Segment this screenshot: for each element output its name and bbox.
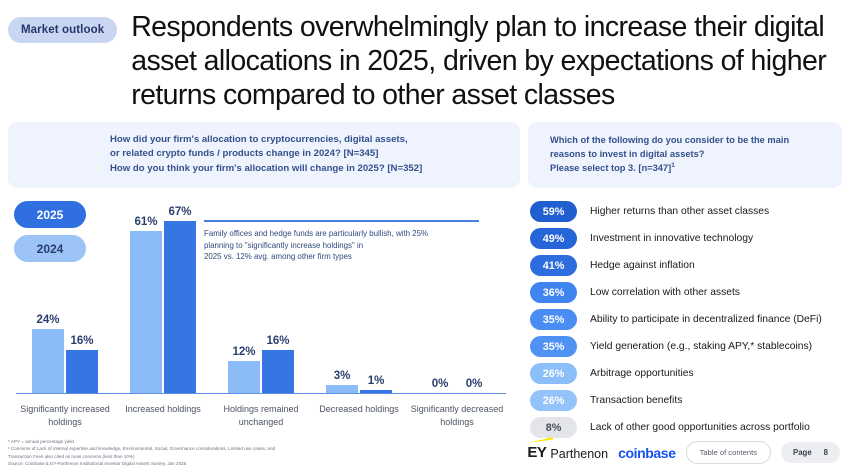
legend-item-2025: 2025	[14, 201, 86, 228]
bar-pair: 61%67%	[130, 206, 196, 393]
reason-value-pill: 41%	[530, 255, 577, 276]
reason-label: Low correlation with other assets	[590, 287, 740, 298]
bar-value-label: 12%	[232, 346, 255, 358]
reason-row: 41%Hedge against inflation	[530, 252, 844, 279]
x-axis-label: Holdings remained unchanged	[212, 398, 310, 436]
bar-value-label: 0%	[466, 378, 483, 390]
question-row: How did your firm's allocation to crypto…	[0, 113, 850, 189]
bar-2024	[130, 231, 162, 392]
reason-row: 49%Investment in innovative technology	[530, 225, 844, 252]
question-box-left: How did your firm's allocation to crypto…	[8, 122, 520, 189]
x-axis-labels: Significantly increased holdingsIncrease…	[16, 398, 506, 436]
x-axis-label: Increased holdings	[114, 398, 212, 436]
reason-row: 35%Yield generation (e.g., staking APY,*…	[530, 333, 844, 360]
page-title: Respondents overwhelmingly plan to incre…	[131, 10, 836, 113]
reason-value-pill: 26%	[530, 390, 577, 411]
question-left-line3: How do you think your firm's allocation …	[110, 162, 506, 177]
question-right-line1: Which of the following do you consider t…	[550, 133, 828, 147]
bar-column-2024: 61%	[130, 206, 162, 393]
question-right-line2: reasons to invest in digital assets?	[550, 147, 828, 161]
x-axis-label: Significantly decreased holdings	[408, 398, 506, 436]
bar-value-label: 16%	[266, 335, 289, 347]
reason-row: 35%Ability to participate in decentraliz…	[530, 306, 844, 333]
question-right-line3: Please select top 3. [n=347]1	[550, 161, 828, 176]
chart-legend: 2025 2024	[14, 201, 86, 269]
bar-2025	[66, 350, 98, 392]
body: 2025 2024 Family offices and hedge funds…	[0, 188, 850, 441]
reason-row: 36%Low correlation with other assets	[530, 279, 844, 306]
page-indicator[interactable]: Page 8	[781, 442, 840, 463]
reason-label: Transaction benefits	[590, 395, 682, 406]
bar-value-label: 0%	[432, 378, 449, 390]
ey-parthenon-word: Parthenon	[550, 448, 608, 461]
bar-value-label: 1%	[368, 375, 385, 387]
annotation-line1: Family offices and hedge funds are parti…	[204, 228, 479, 240]
section-badge: Market outlook	[8, 17, 117, 43]
reason-label: Yield generation (e.g., staking APY,* st…	[590, 341, 812, 352]
reason-value-pill: 26%	[530, 363, 577, 384]
question-right-line3-text: Please select top 3. [n=347]	[550, 163, 671, 173]
bar-2024	[228, 361, 260, 393]
question-box-right: Which of the following do you consider t…	[528, 122, 842, 189]
footer: * APY = annual percentage yield ¹ Concer…	[0, 432, 850, 472]
reason-value-pill: 59%	[530, 201, 577, 222]
bar-group: 61%67%	[114, 206, 212, 393]
slide: Market outlook Respondents overwhelmingl…	[0, 0, 850, 472]
reason-row: 26%Arbitrage opportunities	[530, 360, 844, 387]
chart-axis-line	[16, 393, 506, 395]
reason-label: Higher returns than other asset classes	[590, 206, 769, 217]
legend-item-2024: 2024	[14, 235, 86, 262]
bar-2024	[32, 329, 64, 392]
annotation-line2: planning to "significantly increase hold…	[204, 240, 479, 252]
x-axis-label: Decreased holdings	[310, 398, 408, 436]
bar-value-label: 67%	[168, 206, 191, 218]
x-axis-label: Significantly increased holdings	[16, 398, 114, 436]
reason-value-pill: 36%	[530, 282, 577, 303]
coinbase-logo: coinbase	[618, 446, 676, 460]
reasons-panel: 59%Higher returns than other asset class…	[528, 196, 842, 441]
bar-2025	[262, 350, 294, 392]
bar-column-2025: 67%	[164, 206, 196, 393]
reason-row: 26%Transaction benefits	[530, 387, 844, 414]
legend-label-2024: 2024	[37, 242, 64, 256]
reason-label: Hedge against inflation	[590, 260, 695, 271]
ey-beam-icon	[527, 437, 553, 443]
ey-mark: EY	[527, 445, 546, 460]
bar-2025	[164, 221, 196, 393]
bar-2024	[326, 385, 358, 393]
reason-label: Ability to participate in decentralized …	[590, 314, 822, 325]
reason-value-pill: 35%	[530, 336, 577, 357]
reason-value-pill: 35%	[530, 309, 577, 330]
bar-value-label: 24%	[36, 314, 59, 326]
annotation-line3: 2025 vs. 12% avg. among other firm types	[204, 251, 479, 263]
header: Market outlook Respondents overwhelmingl…	[0, 0, 850, 113]
chart-panel: 2025 2024 Family offices and hedge funds…	[8, 196, 520, 441]
ey-parthenon-logo: EY Parthenon	[527, 445, 608, 460]
bar-value-label: 61%	[134, 216, 157, 228]
legend-label-2025: 2025	[37, 208, 64, 222]
reason-label: Arbitrage opportunities	[590, 368, 694, 379]
table-of-contents-button[interactable]: Table of contents	[686, 441, 771, 464]
reason-value-pill: 49%	[530, 228, 577, 249]
reason-label: Investment in innovative technology	[590, 233, 753, 244]
annotation-rule	[204, 220, 479, 222]
page-number: 8	[824, 448, 828, 457]
footnote-source: Source: Coinbase & EY-Parthenon Institut…	[8, 460, 388, 468]
footnote-marker: 1	[671, 162, 675, 169]
reasons-list: 59%Higher returns than other asset class…	[530, 198, 844, 441]
brand-row: EY Parthenon coinbase Table of contents …	[527, 441, 840, 464]
chart-annotation: Family offices and hedge funds are parti…	[204, 220, 479, 263]
question-left-line2: or related crypto funds / products chang…	[110, 147, 506, 162]
footnote-concerns-2: Transaction Fees also cited as main conc…	[8, 453, 388, 461]
footnote-concerns-1: ¹ Concerns of Lack of internal expertise…	[8, 445, 388, 453]
footnote-apy: * APY = annual percentage yield	[8, 438, 388, 446]
page-label: Page	[793, 448, 812, 457]
reason-row: 59%Higher returns than other asset class…	[530, 198, 844, 225]
bar-value-label: 16%	[70, 335, 93, 347]
footnotes: * APY = annual percentage yield ¹ Concer…	[8, 438, 388, 468]
question-left-line1: How did your firm's allocation to crypto…	[110, 133, 506, 148]
bar-value-label: 3%	[334, 370, 351, 382]
